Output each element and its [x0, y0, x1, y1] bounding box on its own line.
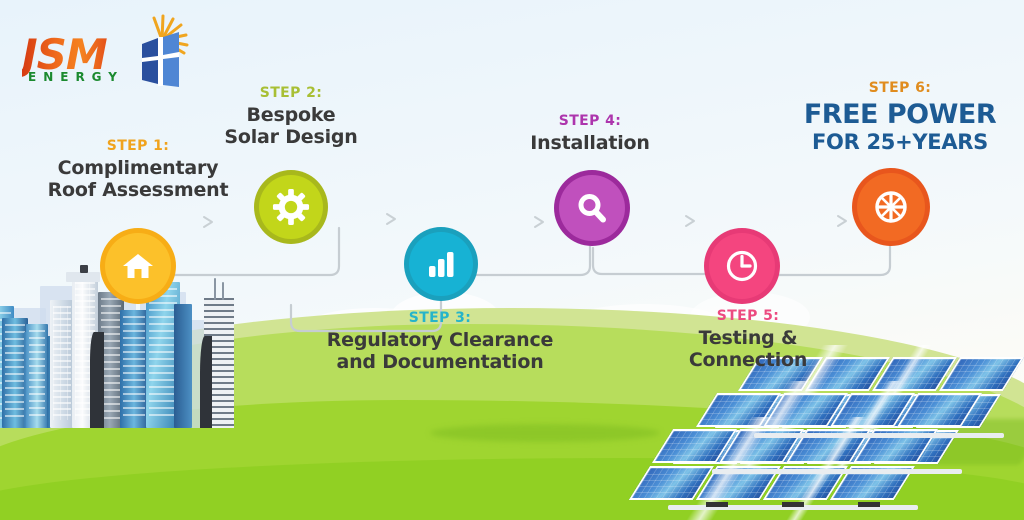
arrow-right-icon-1 — [204, 217, 212, 227]
step-5-node[interactable] — [704, 228, 780, 304]
home-icon — [120, 248, 156, 284]
step-6-label: STEP 6: FREE POWER FOR 25+YEARS — [790, 80, 1010, 155]
step-6-node[interactable] — [852, 168, 930, 246]
solar-panel-icon — [138, 30, 184, 90]
arrow-right-icon-5 — [838, 216, 846, 226]
step-2-line2: Solar Design — [186, 126, 396, 148]
step-5-line1: Testing & — [648, 327, 848, 349]
step-3-line1: Regulatory Clearance — [320, 329, 560, 351]
step-4-node[interactable] — [554, 170, 630, 246]
globe-grid-icon — [871, 187, 911, 227]
step-4-circle — [559, 175, 625, 241]
step-3-circle — [409, 232, 473, 296]
brand-logo[interactable]: JSM ENERGY — [22, 14, 182, 86]
step-2-tag: STEP 2: — [186, 85, 396, 102]
step-2-circle — [259, 175, 323, 239]
step-3-line2: and Documentation — [320, 351, 560, 373]
step-5-label: STEP 5: Testing & Connection — [648, 308, 848, 371]
step-1-line2: Roof Assessment — [28, 179, 248, 201]
arrow-right-icon-2 — [387, 214, 395, 224]
step-6-subheadline: FOR 25+YEARS — [790, 130, 1010, 155]
step-2-line1: Bespoke — [186, 104, 396, 126]
step-1-line1: Complimentary — [28, 157, 248, 179]
step-6-circle — [857, 173, 925, 241]
magnifier-icon — [574, 190, 610, 226]
step-3-node[interactable] — [404, 227, 478, 301]
step-5-line2: Connection — [648, 349, 848, 371]
step-6-tag: STEP 6: — [790, 80, 1010, 97]
step-1-circle — [105, 233, 171, 299]
step-4-line1: Installation — [500, 132, 680, 154]
step-3-tag: STEP 3: — [320, 310, 560, 327]
step-2-node[interactable] — [254, 170, 328, 244]
infographic-canvas: JSM ENERGY STEP 1: — [0, 0, 1024, 520]
step-4-label: STEP 4: Installation — [500, 113, 680, 154]
step-3-label: STEP 3: Regulatory Clearance and Documen… — [320, 310, 560, 373]
logo-subtitle: ENERGY — [28, 70, 124, 84]
gear-icon — [272, 188, 310, 226]
step-5-tag: STEP 5: — [648, 308, 848, 325]
arrow-right-icon-4 — [686, 216, 694, 226]
step-2-label: STEP 2: Bespoke Solar Design — [186, 85, 396, 148]
clock-icon — [723, 247, 761, 285]
step-6-headline: FREE POWER — [790, 99, 1010, 131]
bar-chart-icon — [424, 247, 458, 281]
arrow-right-icon-3 — [535, 217, 543, 227]
step-4-tag: STEP 4: — [500, 113, 680, 130]
step-5-circle — [709, 233, 775, 299]
step-1-node[interactable] — [100, 228, 176, 304]
